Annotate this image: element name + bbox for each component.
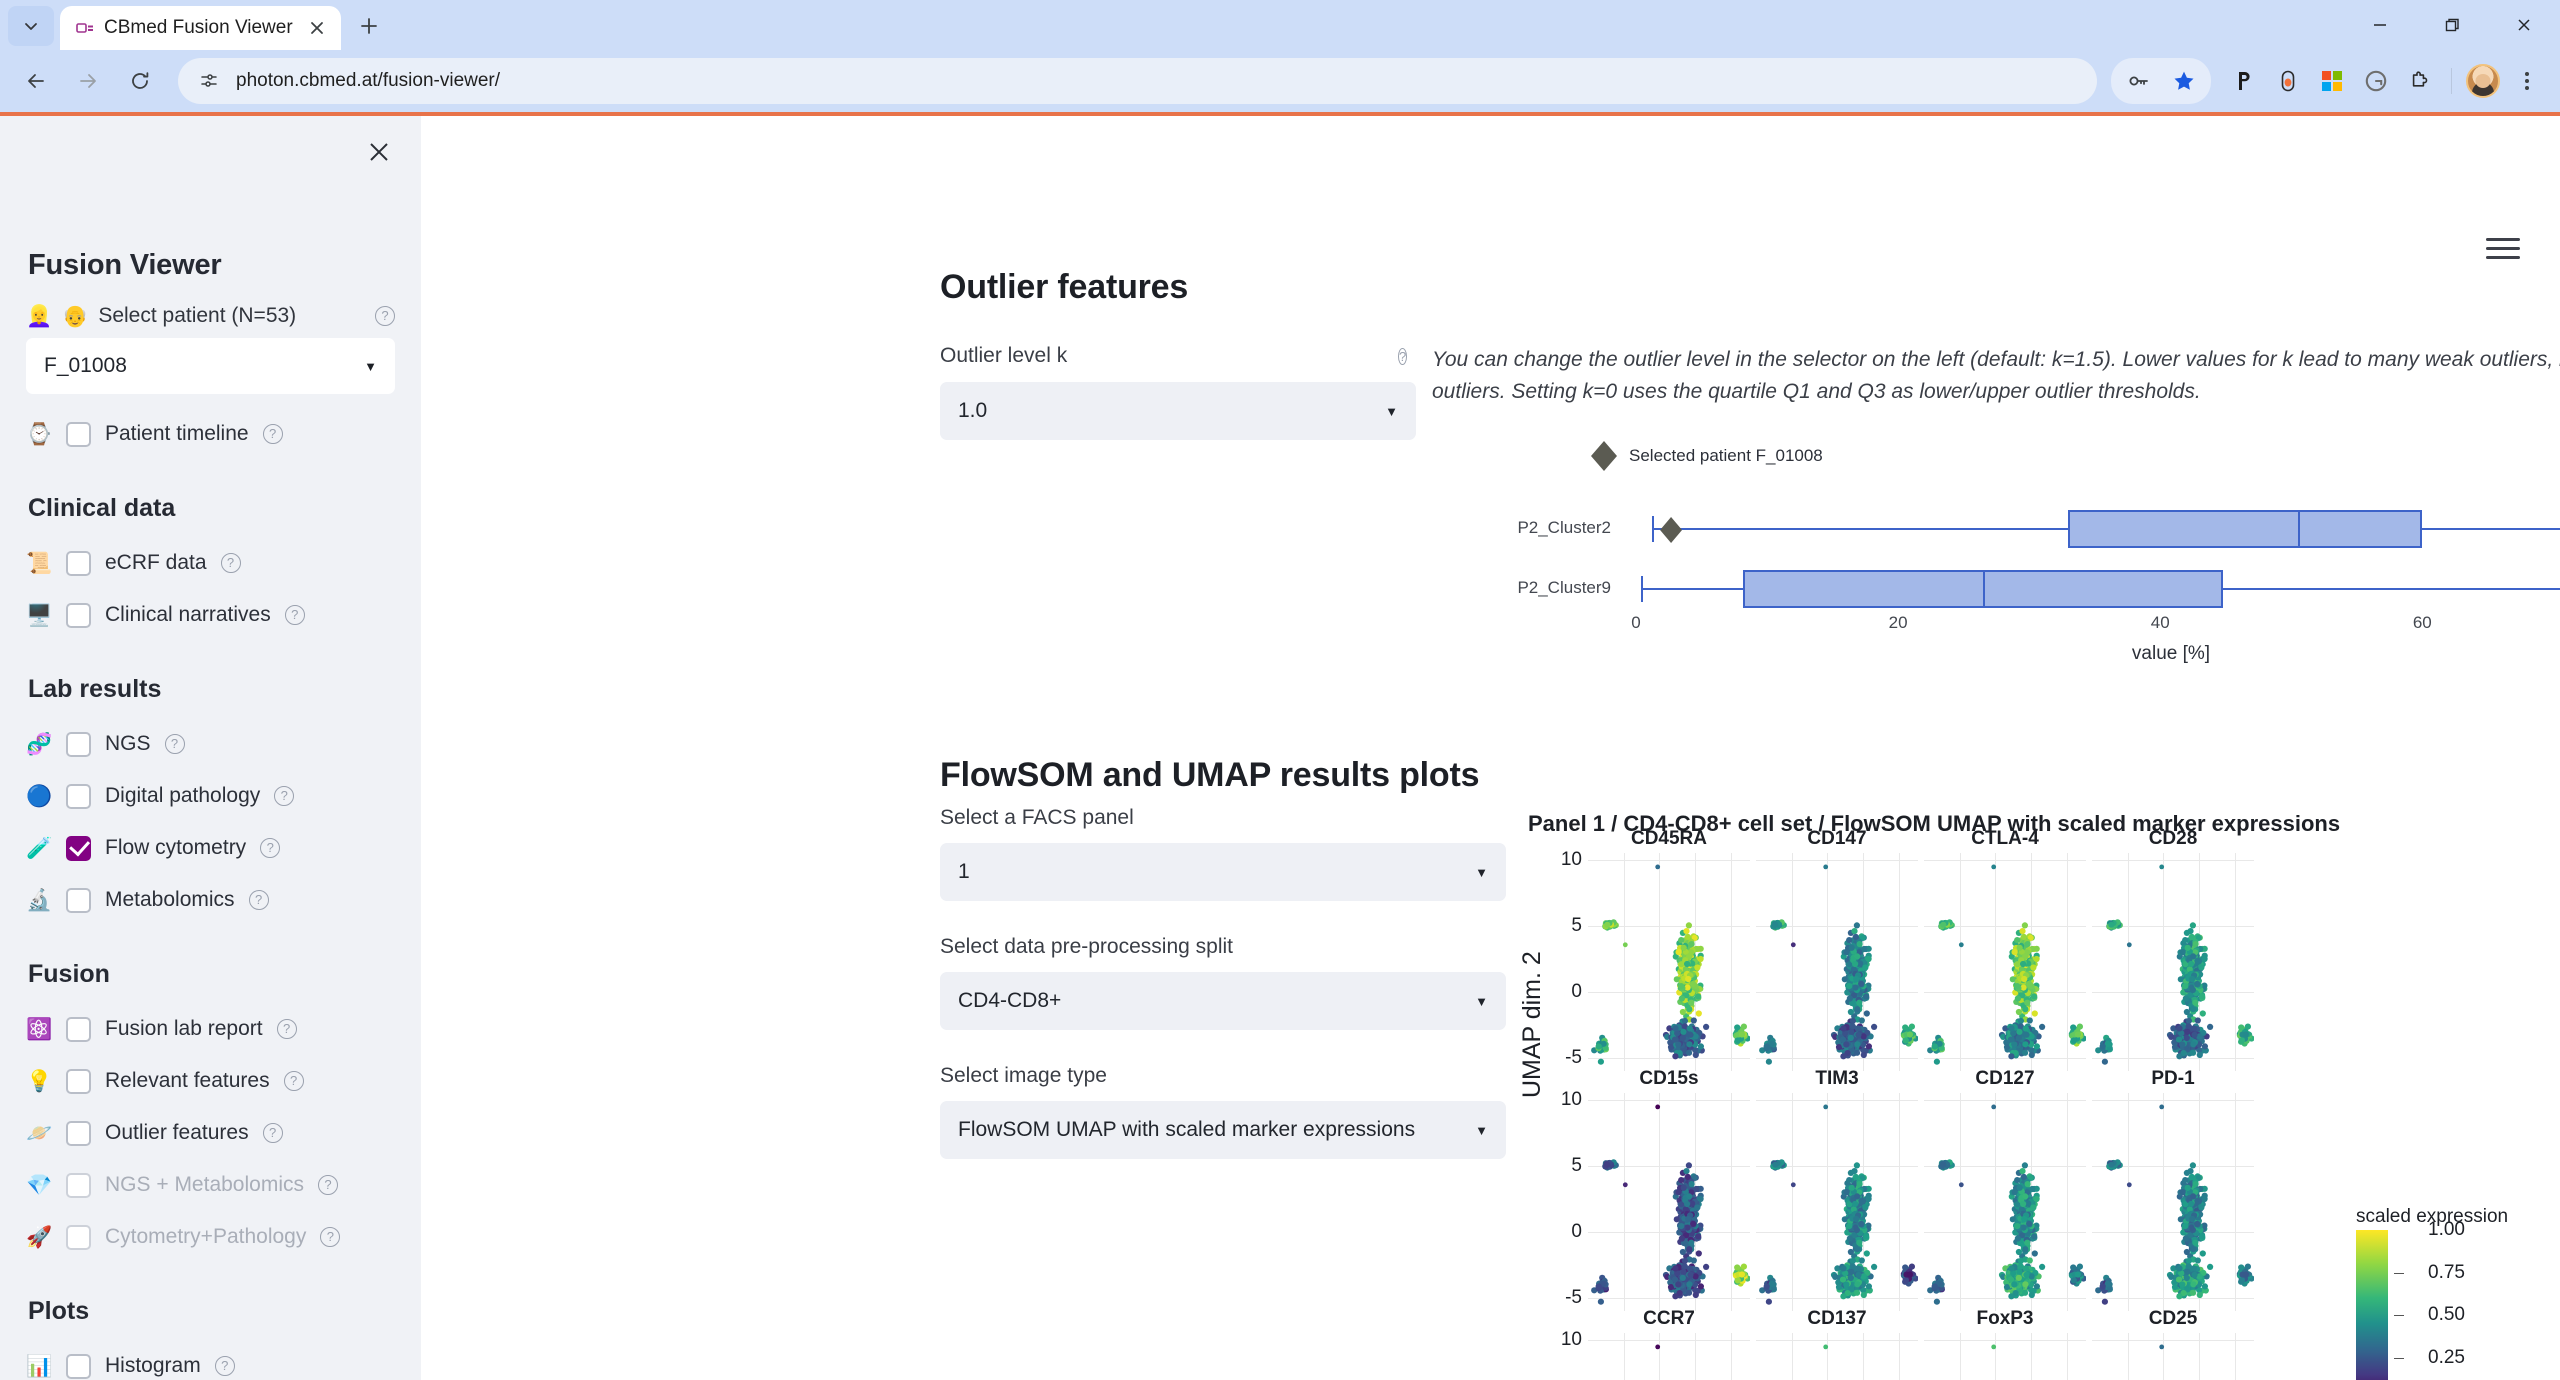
browser-chrome: CBmed Fusion Viewer [0, 0, 2560, 116]
umap-y-tick-label: 0 [1571, 1221, 1582, 1243]
item-emoji-icon: 💎 [26, 1175, 52, 1196]
umap-facet-cell: CD45RA [1588, 853, 1750, 1071]
umap-scatter-points [1924, 1333, 2086, 1380]
patient-select-value: F_01008 [44, 354, 127, 378]
sidebar-item-ngs-metabolomics: 💎NGS + Metabolomics? [26, 1159, 395, 1211]
umap-facet-cell: CCR7 [1588, 1333, 1750, 1380]
item-label: Clinical narratives [105, 603, 271, 627]
sidebar-item-digital-pathology[interactable]: 🔵Digital pathology? [26, 770, 395, 822]
control-select[interactable]: CD4-CD8+▼ [940, 972, 1506, 1030]
umap-facet-panel [1756, 1333, 1918, 1380]
outlier-level-label: Outlier level k [940, 344, 1420, 368]
item-checkbox[interactable] [66, 603, 91, 628]
item-label: Metabolomics [105, 888, 235, 912]
help-icon[interactable]: ? [165, 734, 185, 754]
window-minimize-button[interactable] [2344, 0, 2416, 50]
main-content: Outlier features Outlier level k 1.0 ▼ ?… [421, 116, 2560, 1380]
umap-facet-panel [1924, 853, 2086, 1071]
item-label: Histogram [105, 1354, 201, 1378]
item-emoji-icon: 🔵 [26, 786, 52, 807]
sidebar-item-clinical-narratives[interactable]: 🖥️Clinical narratives? [26, 589, 395, 641]
item-emoji-icon: 🧬 [26, 734, 52, 755]
item-label: NGS [105, 732, 151, 756]
control-select[interactable]: FlowSOM UMAP with scaled marker expressi… [940, 1101, 1506, 1159]
window-controls [2344, 0, 2560, 50]
umap-scatter-points [2092, 1093, 2254, 1311]
tab-title: CBmed Fusion Viewer [104, 17, 293, 39]
umap-y-tick-label: 5 [1571, 1155, 1582, 1177]
patient-timeline-checkbox[interactable] [66, 422, 91, 447]
umap-y-tick-label: 0 [1571, 981, 1582, 1003]
sidebar-item-metabolomics[interactable]: 🔬Metabolomics? [26, 874, 395, 926]
chevron-down-icon: ▼ [1475, 1123, 1488, 1138]
umap-facet-title: CD147 [1756, 828, 1918, 850]
colorbar-tick-label: 1.00 [2428, 1219, 2465, 1241]
boxplot-category-label: P2_Cluster2 [1441, 518, 1611, 538]
flowsom-heading: FlowSOM and UMAP results plots [940, 756, 1479, 795]
help-icon[interactable]: ? [320, 1227, 340, 1247]
umap-facet-cell: CD28 [2092, 853, 2254, 1071]
grammarly-extension-icon[interactable] [2355, 60, 2397, 102]
chevron-down-icon: ▼ [1475, 865, 1488, 880]
item-checkbox[interactable] [66, 1354, 91, 1379]
sidebar-item-histogram[interactable]: 📊Histogram? [26, 1340, 395, 1380]
outlier-level-value: 1.0 [958, 399, 987, 423]
umap-scatter-points [2092, 853, 2254, 1071]
new-tab-button[interactable] [347, 4, 391, 48]
flowsom-controls: Select a FACS panel1▼Select data pre-pro… [940, 806, 1506, 1193]
forward-button[interactable] [64, 57, 112, 105]
sidebar-item-relevant-features[interactable]: 💡Relevant features? [26, 1055, 395, 1107]
umap-facet-title: CD28 [2092, 828, 2254, 850]
umap-facet-title: FoxP3 [1924, 1308, 2086, 1330]
help-icon[interactable]: ? [285, 605, 305, 625]
umap-facet-panel [1588, 1093, 1750, 1311]
umap-facet-title: CD45RA [1588, 828, 1750, 850]
item-checkbox[interactable] [66, 836, 91, 861]
profile-avatar[interactable] [2462, 60, 2504, 102]
sidebar-groups: Clinical data📜eCRF data?🖥️Clinical narra… [26, 494, 395, 1380]
sidebar-item-cytometry-pathology: 🚀Cytometry+Pathology? [26, 1211, 395, 1263]
umap-y-axis: -50510 [1536, 1333, 1582, 1380]
item-label: Cytometry+Pathology [105, 1225, 306, 1249]
sidebar-group-label: Lab results [28, 675, 395, 704]
item-emoji-icon: ⚛️ [26, 1019, 52, 1040]
umap-facet-title: CD137 [1756, 1308, 1918, 1330]
window-close-button[interactable] [2488, 0, 2560, 50]
umap-facet-panel [1756, 1093, 1918, 1311]
item-label: Digital pathology [105, 784, 260, 808]
colorbar-ticks: 1.000.750.500.250.00 [2394, 1230, 2514, 1380]
umap-facet-row: -50510CD45RACD147CTLA-4CD28 [1588, 853, 2448, 1071]
umap-scatter-points [1756, 1093, 1918, 1311]
item-label: Relevant features [105, 1069, 270, 1093]
colorbar-tick-mark [2394, 1358, 2404, 1359]
item-label: NGS + Metabolomics [105, 1173, 304, 1197]
item-emoji-icon: 🧪 [26, 838, 52, 859]
help-icon[interactable]: ? [263, 1123, 283, 1143]
boxplot-category-label: P2_Cluster9 [1441, 578, 1611, 598]
umap-facet-panel [1588, 1333, 1750, 1380]
umap-facet-panel [2092, 1333, 2254, 1380]
outlier-level-select[interactable]: 1.0 ▼ [940, 382, 1416, 440]
umap-scatter-points [1756, 1333, 1918, 1380]
item-emoji-icon: 📜 [26, 553, 52, 574]
tab-strip: CBmed Fusion Viewer [0, 0, 2560, 50]
umap-facet-row: -50510CD15sTIM3CD127PD-1 [1588, 1093, 2448, 1311]
boxplot-median-line [1983, 570, 1985, 608]
outlier-help-wrap: ? [1398, 348, 1422, 366]
item-checkbox[interactable] [66, 1069, 91, 1094]
help-icon[interactable]: ? [277, 1019, 297, 1039]
control-label: Select a FACS panel [940, 806, 1506, 830]
sidebar-item-fusion-lab-report[interactable]: ⚛️Fusion lab report? [26, 1003, 395, 1055]
help-icon[interactable]: ? [263, 424, 283, 444]
sidebar-item-ngs[interactable]: 🧬NGS? [26, 718, 395, 770]
umap-facet-cell: FoxP3 [1924, 1333, 2086, 1380]
item-checkbox [66, 1225, 91, 1250]
outlier-boxplot: Selected patient F_01008 P2_Cluster2P2_C… [1441, 441, 2560, 671]
back-button[interactable] [12, 57, 60, 105]
item-emoji-icon: 🪐 [26, 1123, 52, 1144]
colorbar-tick-label: 0.50 [2428, 1304, 2465, 1326]
password-key-icon[interactable] [2117, 60, 2159, 102]
control-label: Select image type [940, 1064, 1506, 1088]
extensions-puzzle-icon[interactable] [2399, 60, 2441, 102]
help-icon[interactable]: ? [1398, 348, 1407, 365]
patient-select-label-row: 👱‍♀️ 👴 Select patient (N=53) ? [26, 304, 395, 328]
man-emoji-icon: 👴 [62, 306, 88, 327]
help-icon[interactable]: ? [274, 786, 294, 806]
umap-scatter-points [1924, 853, 2086, 1071]
umap-facet-title: CTLA-4 [1924, 828, 2086, 850]
boxplot-box [2068, 510, 2422, 548]
help-icon[interactable]: ? [215, 1356, 235, 1376]
umap-facet-cell: CTLA-4 [1924, 853, 2086, 1071]
colorbar-tick-label: 0.25 [2428, 1347, 2465, 1369]
colorbar-body: 1.000.750.500.250.00 [2356, 1230, 2546, 1380]
honey-extension-icon[interactable] [2267, 60, 2309, 102]
boxplot-whisker-cap [1641, 576, 1643, 602]
umap-y-axis: -50510 [1536, 1093, 1582, 1311]
umap-facet-cell: CD127 [1924, 1093, 2086, 1311]
item-emoji-icon: 💡 [26, 1071, 52, 1092]
umap-facet-panel [2092, 853, 2254, 1071]
help-icon[interactable]: ? [284, 1071, 304, 1091]
colorbar-tick-mark [2394, 1273, 2404, 1274]
umap-y-tick-label: -5 [1565, 1287, 1582, 1309]
colorbar-tick-label: 0.75 [2428, 1262, 2465, 1284]
toolbar-actions [2111, 58, 2548, 104]
sidebar-close-icon[interactable] [359, 132, 399, 172]
item-emoji-icon: 📊 [26, 1356, 52, 1377]
toolbar-divider [2451, 68, 2452, 94]
sidebar-item-flow-cytometry[interactable]: 🧪Flow cytometry? [26, 822, 395, 874]
umap-scatter-points [1756, 853, 1918, 1071]
browser-menu-kebab-icon[interactable] [2506, 60, 2548, 102]
tab-search-icon[interactable] [8, 6, 54, 46]
umap-facet-panel [1924, 1093, 2086, 1311]
umap-facet-cell: PD-1 [2092, 1093, 2254, 1311]
colorbar-tick-mark [2394, 1315, 2404, 1316]
omnibox-actions-pill [2111, 58, 2211, 104]
umap-grid-rows: -50510CD45RACD147CTLA-4CD28-50510CD15sTI… [1588, 853, 2448, 1380]
chevron-down-icon: ▼ [364, 359, 377, 374]
sidebar-group-label: Clinical data [28, 494, 395, 523]
boxplot-xlabel: value [%] [1441, 643, 2560, 665]
chevron-down-icon: ▼ [1475, 994, 1488, 1009]
address-bar-url: photon.cbmed.at/fusion-viewer/ [236, 70, 500, 92]
umap-colorbar-legend: scaled expression 1.000.750.500.250.00 [2356, 1206, 2546, 1380]
colorbar-gradient [2356, 1230, 2388, 1380]
umap-facet-title: CD127 [1924, 1068, 2086, 1090]
umap-scatter-points [1588, 1333, 1750, 1380]
umap-y-axis: -50510 [1536, 853, 1582, 1071]
umap-scatter-points [2092, 1333, 2254, 1380]
item-checkbox[interactable] [66, 888, 91, 913]
umap-scatter-points [1588, 1093, 1750, 1311]
sidebar-group-label: Plots [28, 1297, 395, 1326]
outlier-level-control: Outlier level k 1.0 ▼ [940, 344, 1420, 440]
umap-y-tick-label: 10 [1561, 1329, 1582, 1351]
patient-select[interactable]: F_01008 ▼ [26, 338, 395, 394]
sidebar: Fusion Viewer 👱‍♀️ 👴 Select patient (N=5… [0, 116, 421, 1380]
item-checkbox[interactable] [66, 551, 91, 576]
umap-scatter-points [1924, 1093, 2086, 1311]
boxplot-x-tick: 0 [1631, 613, 1640, 633]
item-emoji-icon: 🖥️ [26, 605, 52, 626]
control-value: FlowSOM UMAP with scaled marker expressi… [958, 1118, 1415, 1142]
sidebar-group-label: Fusion [28, 960, 395, 989]
bookmark-star-icon[interactable] [2163, 60, 2205, 102]
page-favicon-icon [76, 19, 94, 37]
boxplot-median-line [2298, 510, 2300, 548]
control-value: 1 [958, 860, 970, 884]
umap-facet-title: CD25 [2092, 1308, 2254, 1330]
umap-facet-title: PD-1 [2092, 1068, 2254, 1090]
item-checkbox[interactable] [66, 1121, 91, 1146]
umap-facet-title: TIM3 [1756, 1068, 1918, 1090]
sidebar-item-patient-timeline[interactable]: ⌚ Patient timeline ? [26, 408, 395, 460]
umap-facet-row: -50510CCR7CD137FoxP3CD25 [1588, 1333, 2448, 1380]
tab-close-icon[interactable] [303, 14, 331, 42]
flowsom-control-block: Select data pre-processing splitCD4-CD8+… [940, 935, 1506, 1030]
umap-scatter-points [1588, 853, 1750, 1071]
help-icon[interactable]: ? [221, 553, 241, 573]
main-menu-icon[interactable] [2486, 238, 2520, 259]
pocket-extension-icon[interactable] [2223, 60, 2265, 102]
item-checkbox[interactable] [66, 784, 91, 809]
item-checkbox[interactable] [66, 1017, 91, 1042]
help-icon[interactable]: ? [260, 838, 280, 858]
patient-select-label: Select patient (N=53) [98, 304, 296, 328]
umap-facet-cell: CD15s [1588, 1093, 1750, 1311]
window-maximize-button[interactable] [2416, 0, 2488, 50]
item-emoji-icon: 🚀 [26, 1227, 52, 1248]
browser-tab[interactable]: CBmed Fusion Viewer [60, 6, 341, 50]
item-checkbox[interactable] [66, 732, 91, 757]
app-root: Fusion Viewer 👱‍♀️ 👴 Select patient (N=5… [0, 116, 2560, 1380]
item-emoji-icon: 🔬 [26, 890, 52, 911]
patient-timeline-label: Patient timeline [105, 422, 249, 446]
address-bar[interactable]: photon.cbmed.at/fusion-viewer/ [178, 58, 2097, 104]
umap-facet-panel [1756, 853, 1918, 1071]
umap-facet-panel [1588, 853, 1750, 1071]
boxplot-x-tick: 60 [2413, 613, 2432, 633]
umap-facet-cell: CD137 [1756, 1333, 1918, 1380]
umap-facet-cell: TIM3 [1756, 1093, 1918, 1311]
sidebar-item-ecrf-data[interactable]: 📜eCRF data? [26, 537, 395, 589]
umap-y-tick-label: 10 [1561, 1089, 1582, 1111]
sidebar-title: Fusion Viewer [28, 249, 395, 282]
reload-button[interactable] [116, 57, 164, 105]
umap-facet-title: CD15s [1588, 1068, 1750, 1090]
umap-facet-cell: CD25 [2092, 1333, 2254, 1380]
help-icon[interactable]: ? [375, 306, 395, 326]
control-select[interactable]: 1▼ [940, 843, 1506, 901]
watch-emoji-icon: ⌚ [26, 424, 52, 445]
umap-y-tick-label: 5 [1571, 915, 1582, 937]
umap-facet-panel [1924, 1333, 2086, 1380]
chevron-down-icon: ▼ [1385, 404, 1398, 419]
item-label: Outlier features [105, 1121, 249, 1145]
umap-facet-panel [2092, 1093, 2254, 1311]
control-value: CD4-CD8+ [958, 989, 1061, 1013]
item-label: Fusion lab report [105, 1017, 263, 1041]
sidebar-item-outlier-features[interactable]: 🪐Outlier features? [26, 1107, 395, 1159]
umap-facet-title: CCR7 [1588, 1308, 1750, 1330]
flowsom-control-block: Select a FACS panel1▼ [940, 806, 1506, 901]
boxplot-x-tick: 40 [2151, 613, 2170, 633]
item-label: eCRF data [105, 551, 207, 575]
umap-facet-cell: CD147 [1756, 853, 1918, 1071]
woman-emoji-icon: 👱‍♀️ [26, 306, 52, 327]
page-info-icon[interactable] [196, 68, 222, 94]
control-label: Select data pre-processing split [940, 935, 1506, 959]
item-checkbox [66, 1173, 91, 1198]
boxplot-whisker-cap [1652, 516, 1654, 542]
umap-y-tick-label: -5 [1565, 1047, 1582, 1069]
outlier-note: You can change the outlier level in the … [1432, 344, 2560, 408]
help-icon[interactable]: ? [249, 890, 269, 910]
microsoft-extension-icon[interactable] [2311, 60, 2353, 102]
outlier-heading: Outlier features [940, 268, 2560, 307]
boxplot-canvas: P2_Cluster2P2_Cluster9020406080 [1441, 441, 2560, 671]
browser-toolbar: photon.cbmed.at/fusion-viewer/ [0, 50, 2560, 112]
boxplot-x-tick: 20 [1889, 613, 1908, 633]
item-label: Flow cytometry [105, 836, 246, 860]
help-icon[interactable]: ? [318, 1175, 338, 1195]
flowsom-control-block: Select image typeFlowSOM UMAP with scale… [940, 1064, 1506, 1159]
umap-facet-grid: UMAP dim. 2 -50510CD45RACD147CTLA-4CD28-… [1528, 853, 2448, 1380]
selected-patient-marker-icon [1660, 517, 1682, 543]
umap-y-tick-label: 10 [1561, 849, 1582, 871]
